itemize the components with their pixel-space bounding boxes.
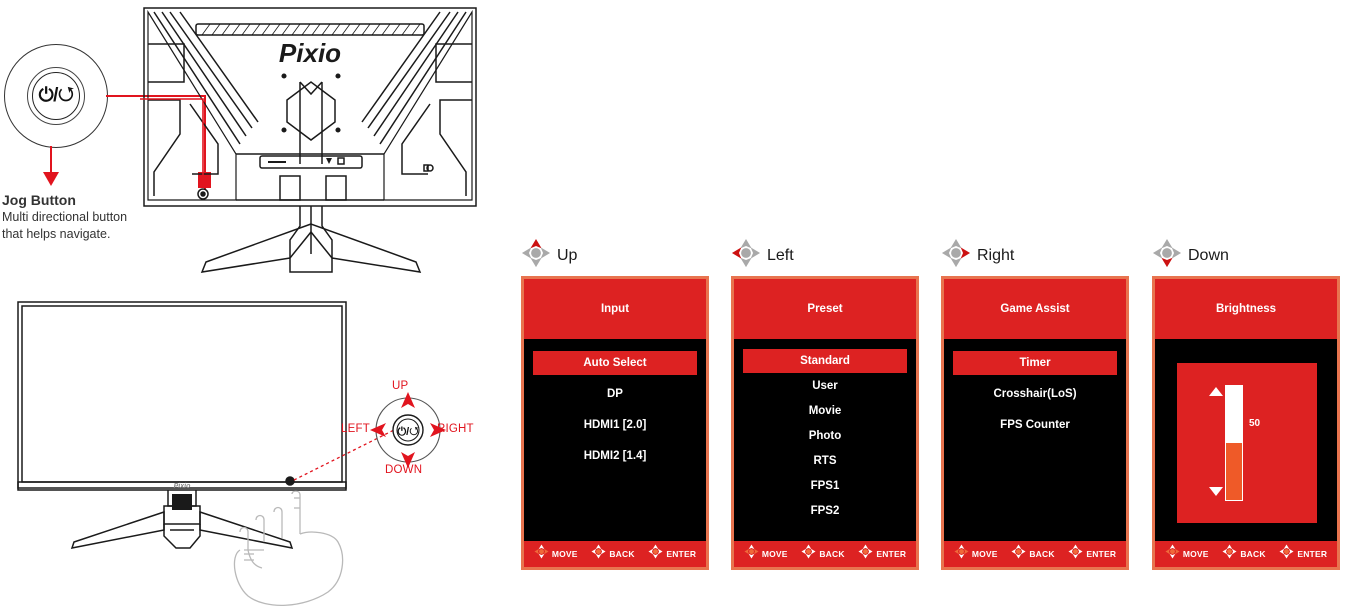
osd-panel-footer: MOVE BACK ENTER — [1155, 541, 1337, 567]
osd-panel-body: StandardUserMoviePhotoRTSFPS1FPS2 — [734, 339, 916, 541]
osd-panel-footer: MOVE BACK ENTER — [734, 541, 916, 567]
footer-action-move[interactable]: MOVE — [744, 544, 788, 564]
brightness-slider-area: 50 — [1177, 363, 1317, 523]
osd-menu-item[interactable]: DP — [524, 382, 706, 406]
osd-menu-item[interactable]: User — [734, 374, 916, 398]
dpad-enter-icon — [648, 544, 663, 564]
front-brand-logo: Pixio — [174, 483, 191, 490]
panel-caption-label: Right — [977, 247, 1014, 265]
dpad-move-icon — [954, 544, 969, 564]
footer-action-back[interactable]: BACK — [801, 544, 844, 564]
osd-panel-brightness: Brightness50 MOVE BACK ENTER — [1152, 276, 1340, 570]
footer-action-label: ENTER — [666, 549, 696, 559]
osd-menu-item[interactable]: FPS1 — [734, 474, 916, 498]
osd-panel-body: TimerCrosshair(LoS)FPS Counter — [944, 339, 1126, 541]
footer-action-label: ENTER — [1297, 549, 1327, 559]
footer-action-label: BACK — [819, 549, 844, 559]
footer-action-move[interactable]: MOVE — [534, 544, 578, 564]
footer-action-label: ENTER — [1086, 549, 1116, 559]
panel-caption-down: Down — [1152, 238, 1229, 273]
slider-increase-arrow-icon[interactable] — [1209, 387, 1223, 396]
dpad-right-icon — [941, 238, 971, 273]
panel-caption-label: Left — [767, 247, 794, 265]
front-direction-label-up: UP — [392, 380, 408, 392]
osd-panel-game-assist: Game AssistTimerCrosshair(LoS)FPS Counte… — [941, 276, 1129, 570]
osd-panel-title: Input — [524, 279, 706, 339]
footer-action-back[interactable]: BACK — [1222, 544, 1265, 564]
footer-action-enter[interactable]: ENTER — [1068, 544, 1116, 564]
dpad-enter-icon — [1279, 544, 1294, 564]
dpad-back-icon — [801, 544, 816, 564]
osd-menu-item[interactable]: Photo — [734, 424, 916, 448]
brightness-slider-track[interactable] — [1225, 385, 1243, 501]
dpad-up-icon — [521, 238, 551, 273]
osd-menu-item[interactable]: HDMI2 [1.4] — [524, 444, 706, 468]
footer-action-enter[interactable]: ENTER — [648, 544, 696, 564]
osd-menu-item[interactable]: FPS Counter — [944, 413, 1126, 437]
panel-caption-label: Down — [1188, 247, 1229, 265]
footer-action-label: MOVE — [1183, 549, 1209, 559]
footer-action-move[interactable]: MOVE — [1165, 544, 1209, 564]
osd-panel-input: InputAuto SelectDPHDMI1 [2.0]HDMI2 [1.4]… — [521, 276, 709, 570]
osd-menu-item-selected[interactable]: Standard — [743, 349, 907, 373]
dpad-move-icon — [534, 544, 549, 564]
osd-panel-title: Brightness — [1155, 279, 1337, 339]
footer-action-label: BACK — [1240, 549, 1265, 559]
footer-action-enter[interactable]: ENTER — [858, 544, 906, 564]
rear-brand-logo: Pixio — [279, 38, 341, 68]
panel-caption-left: Left — [731, 238, 794, 273]
osd-panel-body: Auto SelectDPHDMI1 [2.0]HDMI2 [1.4] — [524, 339, 706, 541]
osd-panel-footer: MOVE BACK ENTER — [944, 541, 1126, 567]
dpad-move-icon — [1165, 544, 1180, 564]
osd-menu-item[interactable]: HDMI1 [2.0] — [524, 413, 706, 437]
osd-menu-item[interactable]: FPS2 — [734, 499, 916, 523]
brightness-slider-fill — [1226, 443, 1242, 500]
dpad-move-icon — [744, 544, 759, 564]
osd-panel-body: 50 — [1155, 339, 1337, 541]
osd-menu-item[interactable]: Movie — [734, 399, 916, 423]
dpad-enter-icon — [858, 544, 873, 564]
osd-menu-item[interactable]: Crosshair(LoS) — [944, 382, 1126, 406]
monitor-rear-view: Pixio — [140, 4, 480, 289]
footer-action-label: MOVE — [972, 549, 998, 559]
dpad-back-icon — [1222, 544, 1237, 564]
dpad-back-icon — [1011, 544, 1026, 564]
front-direction-label-down: DOWN — [385, 464, 422, 476]
svg-text:⏻/↺: ⏻/↺ — [397, 425, 419, 438]
dpad-left-icon — [731, 238, 761, 273]
jog-button-title: Jog Button — [2, 192, 76, 208]
monitor-front-view: Pixio — [4, 298, 404, 612]
osd-panel-title: Preset — [734, 279, 916, 339]
brightness-value: 50 — [1249, 418, 1260, 429]
jog-button-description: Multi directional button that helps navi… — [2, 209, 142, 242]
osd-panel-footer: MOVE BACK ENTER — [524, 541, 706, 567]
callout-arrow-stem — [50, 146, 52, 174]
footer-action-label: MOVE — [552, 549, 578, 559]
footer-action-back[interactable]: BACK — [1011, 544, 1054, 564]
power-return-icon: ⏻/↺ — [39, 85, 74, 107]
slider-decrease-arrow-icon[interactable] — [1209, 487, 1223, 496]
jog-button-callout: ⏻/↺ — [4, 44, 108, 148]
footer-action-enter[interactable]: ENTER — [1279, 544, 1327, 564]
footer-action-label: MOVE — [762, 549, 788, 559]
dpad-back-icon — [591, 544, 606, 564]
dpad-down-icon — [1152, 238, 1182, 273]
front-direction-label-right: RIGHT — [437, 423, 474, 435]
dpad-enter-icon — [1068, 544, 1083, 564]
panel-caption-label: Up — [557, 247, 577, 265]
arrow-down-icon — [43, 172, 59, 186]
footer-action-label: BACK — [609, 549, 634, 559]
footer-action-label: BACK — [1029, 549, 1054, 559]
osd-panel-preset: PresetStandardUserMoviePhotoRTSFPS1FPS2 … — [731, 276, 919, 570]
osd-panel-title: Game Assist — [944, 279, 1126, 339]
page-root: ⏻/↺ Jog Button Multi directional button … — [0, 0, 1346, 612]
front-direction-label-left: LEFT — [341, 423, 370, 435]
footer-action-move[interactable]: MOVE — [954, 544, 998, 564]
footer-action-label: ENTER — [876, 549, 906, 559]
panel-caption-right: Right — [941, 238, 1014, 273]
osd-menu-item-selected[interactable]: Timer — [953, 351, 1117, 375]
panel-caption-up: Up — [521, 238, 577, 273]
footer-action-back[interactable]: BACK — [591, 544, 634, 564]
osd-menu-item[interactable]: RTS — [734, 449, 916, 473]
osd-menu-item-selected[interactable]: Auto Select — [533, 351, 697, 375]
